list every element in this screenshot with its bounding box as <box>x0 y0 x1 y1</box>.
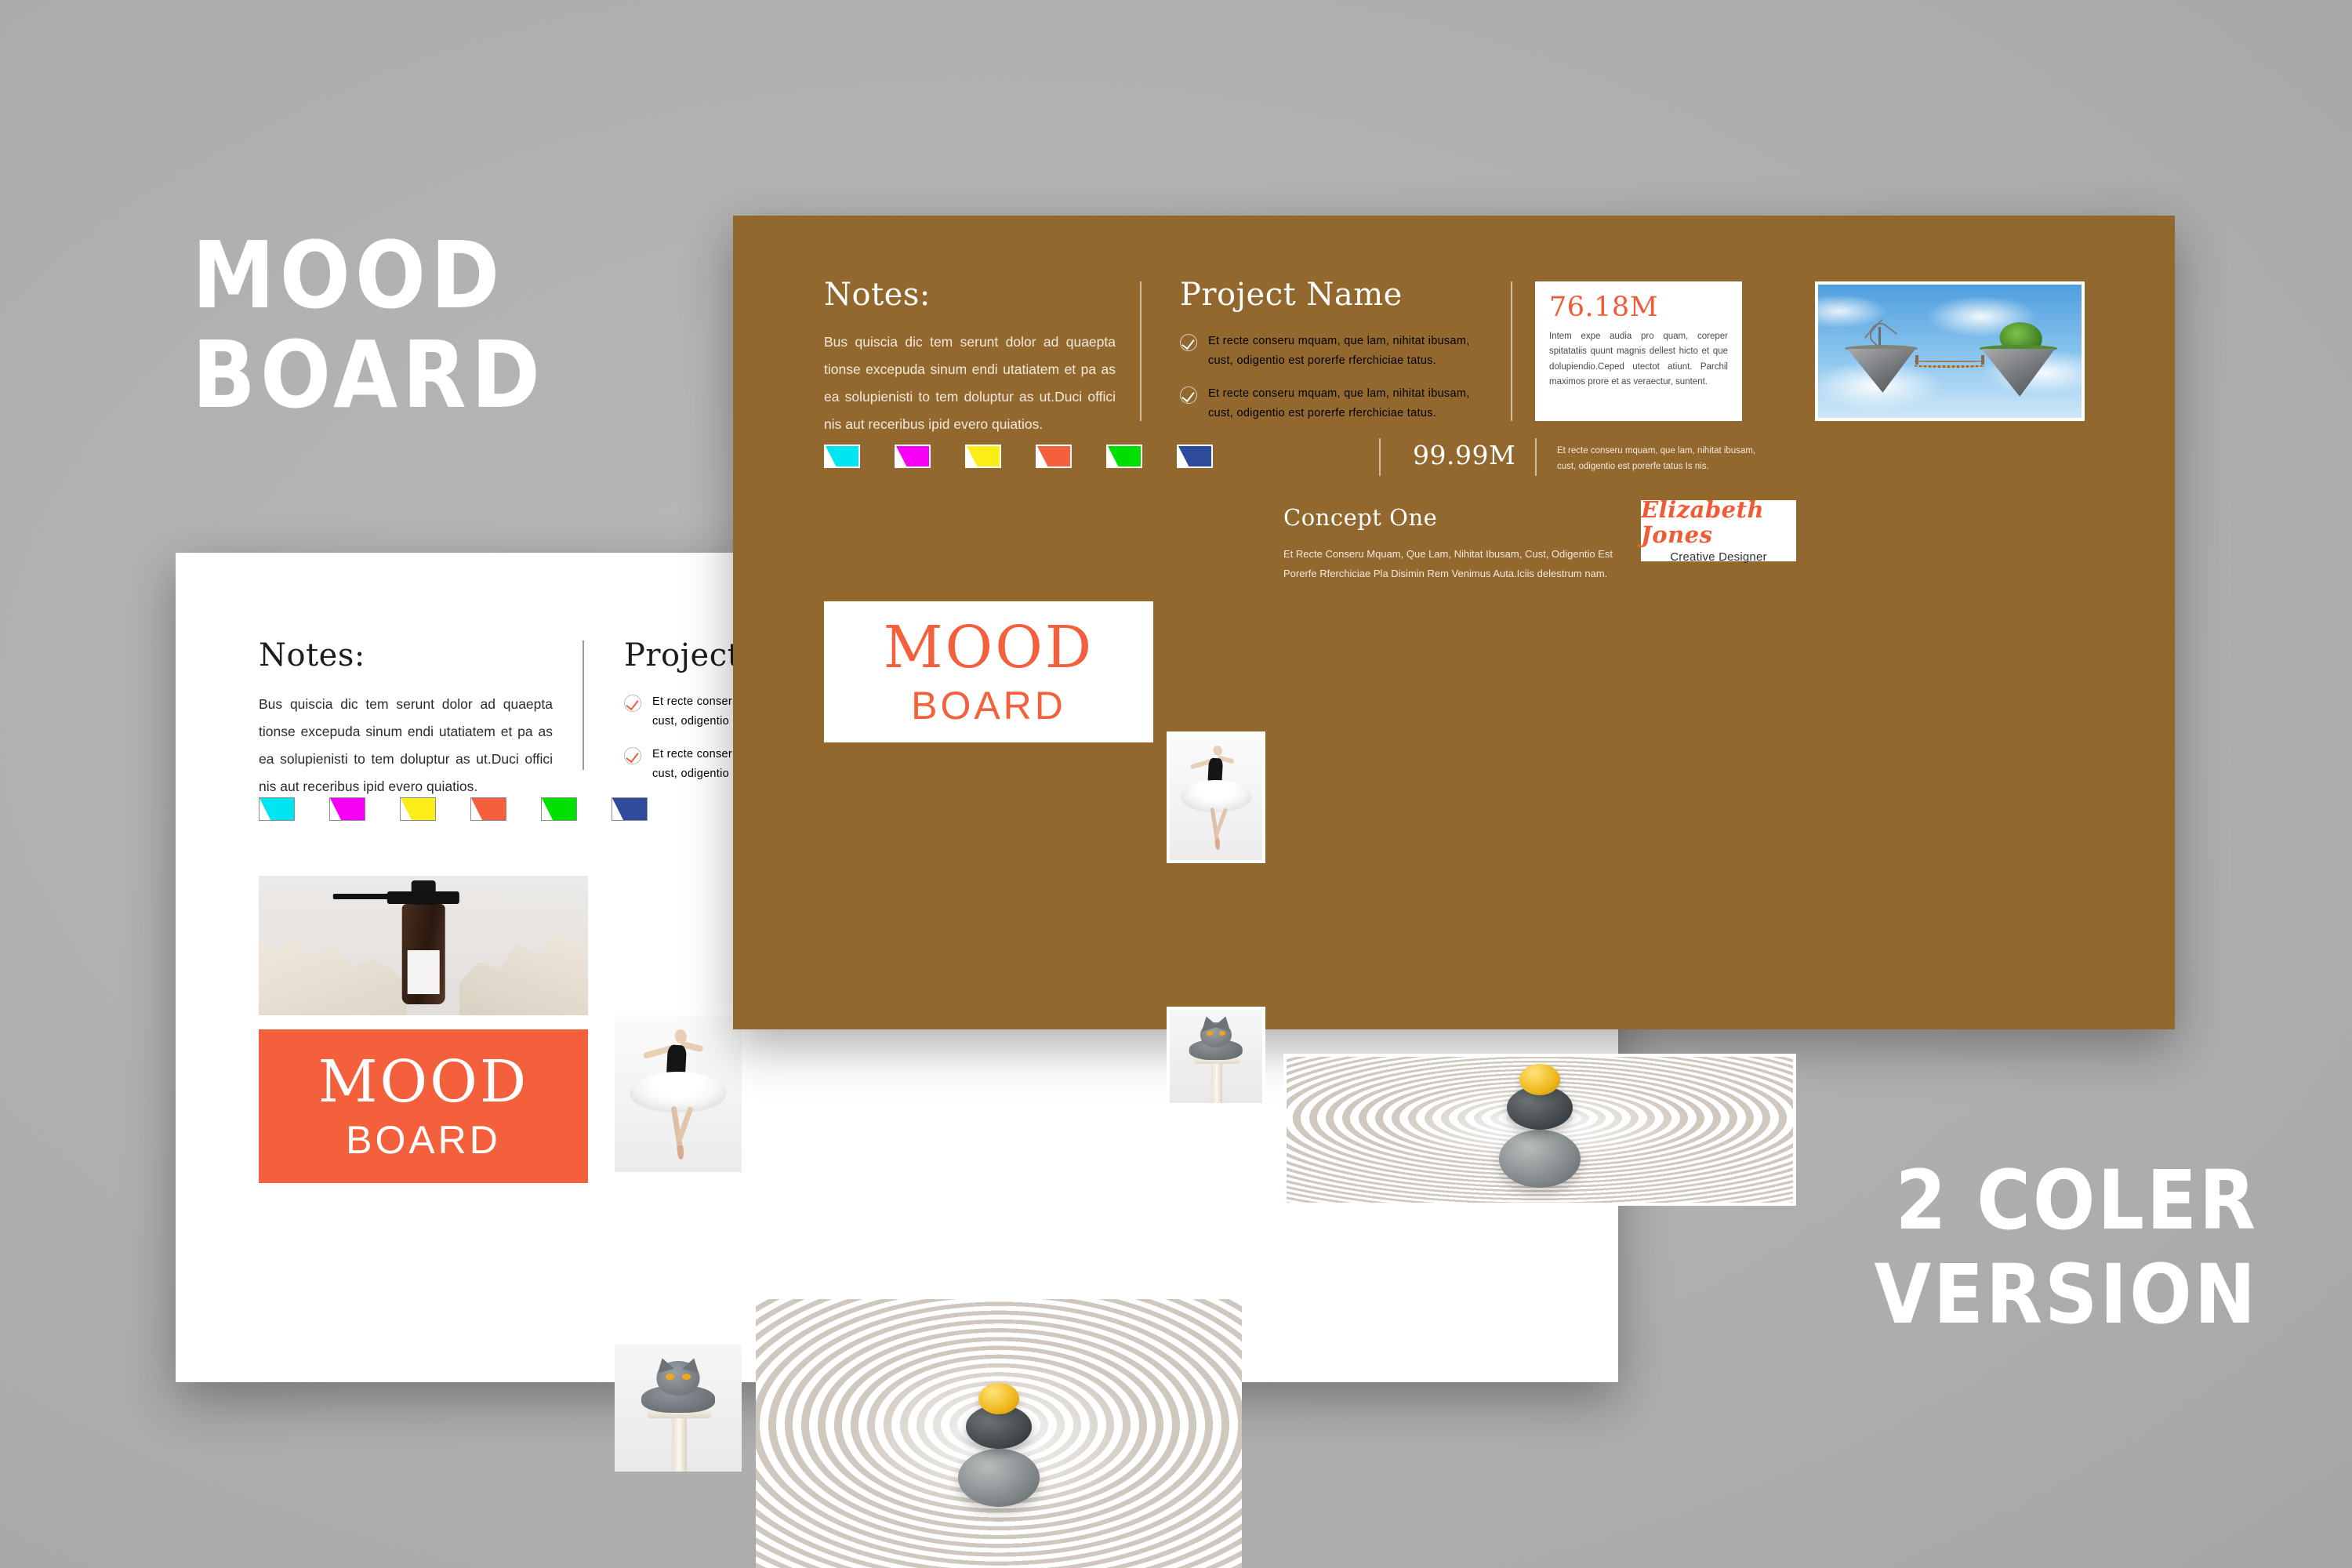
color-swatch-fill <box>896 446 929 466</box>
brown-checklist-item: Et recte conseru mquam, que lam, nihitat… <box>1180 332 1490 372</box>
color-swatch-green[interactable] <box>541 797 577 821</box>
brown-notes-body: Bus quiscia dic tem serunt dolor ad quae… <box>824 328 1116 438</box>
brown-project-block: Project Name Et recte conseru mquam, que… <box>1180 277 1490 437</box>
white-notes-block: Notes: Bus quiscia dic tem serunt dolor … <box>259 637 553 800</box>
designer-name: Elizabeth Jones <box>1641 498 1796 548</box>
color-swatch-fill <box>401 798 435 820</box>
concept-body: Et Recte Conseru Mquam, Que Lam, Nihitat… <box>1283 545 1613 583</box>
brown-notes-title: Notes: <box>824 277 1116 313</box>
white-mood-board-logo-card: MOOD BOARD <box>259 1029 588 1183</box>
white-color-swatch-row[interactable] <box>259 797 648 821</box>
promo-left-line1: MOOD <box>192 221 504 329</box>
image-zen-stones-raked-sand <box>756 1299 1242 1568</box>
color-swatch-blue[interactable] <box>612 797 648 821</box>
image-ballerina-dancer <box>1167 731 1265 863</box>
check-circle-icon <box>1180 387 1197 404</box>
color-swatch-fill <box>967 446 1000 466</box>
white-logo-line1: MOOD <box>318 1053 528 1111</box>
brown-checklist-text: Et recte conseru mquam, que lam, nihitat… <box>1208 384 1490 424</box>
designer-name-card: Elizabeth Jones Creative Designer <box>1641 500 1796 561</box>
white-notes-body: Bus quiscia dic tem serunt dolor ad quae… <box>259 691 553 800</box>
color-swatch-fill <box>1178 446 1211 466</box>
stat-body-text: Intem expe audia pro quam, coreper spita… <box>1549 329 1728 390</box>
promo-heading-right: 2 COLER VERSION <box>1875 1162 2258 1334</box>
brown-divider-1 <box>1140 281 1142 421</box>
check-circle-icon <box>624 747 641 764</box>
designer-role: Creative Designer <box>1670 550 1766 564</box>
image-zen-stones-raked-sand <box>1283 1054 1796 1206</box>
image-soap-bottle-on-rocks <box>259 876 588 1015</box>
stat-card-76-18m: 76.18M Intem expe audia pro quam, corepe… <box>1535 281 1742 421</box>
color-swatch-fill <box>260 798 294 820</box>
color-swatch-fill <box>542 798 576 820</box>
promo-right-line2: VERSION <box>1875 1256 2258 1334</box>
color-swatch-orange[interactable] <box>470 797 506 821</box>
color-swatch-fill <box>471 798 506 820</box>
white-logo-line2: BOARD <box>346 1120 501 1160</box>
brown-mood-board-logo-card: MOOD BOARD <box>824 601 1153 742</box>
brown-divider-4 <box>1535 438 1537 476</box>
color-swatch-fill <box>826 446 858 466</box>
promo-heading-left: MOOD BOARD <box>192 231 545 420</box>
white-notes-title: Notes: <box>259 637 553 673</box>
brown-project-title: Project Name <box>1180 277 1490 313</box>
stat-value: 76.18M <box>1549 294 1728 321</box>
brown-logo-line1: MOOD <box>884 619 1094 677</box>
brown-logo-line2: BOARD <box>911 686 1066 725</box>
image-ballerina-dancer <box>615 1015 742 1172</box>
color-swatch-yellow[interactable] <box>965 445 1001 468</box>
image-grey-cat-on-scratching-post <box>1167 1007 1265 1106</box>
image-grey-cat-on-scratching-post <box>615 1345 742 1472</box>
brown-divider-2 <box>1511 281 1512 421</box>
color-swatch-green[interactable] <box>1106 445 1142 468</box>
image-floating-islands-sky <box>1815 281 2085 421</box>
concept-block: Concept One Et Recte Conseru Mquam, Que … <box>1283 504 1613 583</box>
metric-note-text: Et recte conseru mquam, que lam, nihitat… <box>1557 443 1773 474</box>
brown-checklist-item: Et recte conseru mquam, que lam, nihitat… <box>1180 384 1490 424</box>
metric-value-99-99m: 99.99M <box>1413 440 1515 470</box>
color-swatch-cyan[interactable] <box>824 445 860 468</box>
color-swatch-fill <box>612 798 647 820</box>
check-circle-icon <box>1180 334 1197 351</box>
color-swatch-orange[interactable] <box>1036 445 1072 468</box>
check-circle-icon <box>624 695 641 712</box>
color-swatch-fill <box>330 798 365 820</box>
brown-color-swatch-row[interactable] <box>824 445 1213 468</box>
brown-divider-3 <box>1379 438 1381 476</box>
color-swatch-fill <box>1108 446 1141 466</box>
color-swatch-yellow[interactable] <box>400 797 436 821</box>
slide-brown-version[interactable]: Notes: Bus quiscia dic tem serunt dolor … <box>733 216 2175 1029</box>
color-swatch-blue[interactable] <box>1177 445 1213 468</box>
white-divider-1 <box>583 641 584 770</box>
brown-notes-block: Notes: Bus quiscia dic tem serunt dolor … <box>824 277 1116 438</box>
promo-right-line1: 2 COLER <box>1896 1152 2258 1248</box>
brown-checklist-text: Et recte conseru mquam, que lam, nihitat… <box>1208 332 1490 372</box>
color-swatch-fill <box>1037 446 1070 466</box>
color-swatch-magenta[interactable] <box>895 445 931 468</box>
promo-left-line2: BOARD <box>192 331 545 419</box>
concept-title: Concept One <box>1283 504 1613 531</box>
color-swatch-cyan[interactable] <box>259 797 295 821</box>
color-swatch-magenta[interactable] <box>329 797 365 821</box>
